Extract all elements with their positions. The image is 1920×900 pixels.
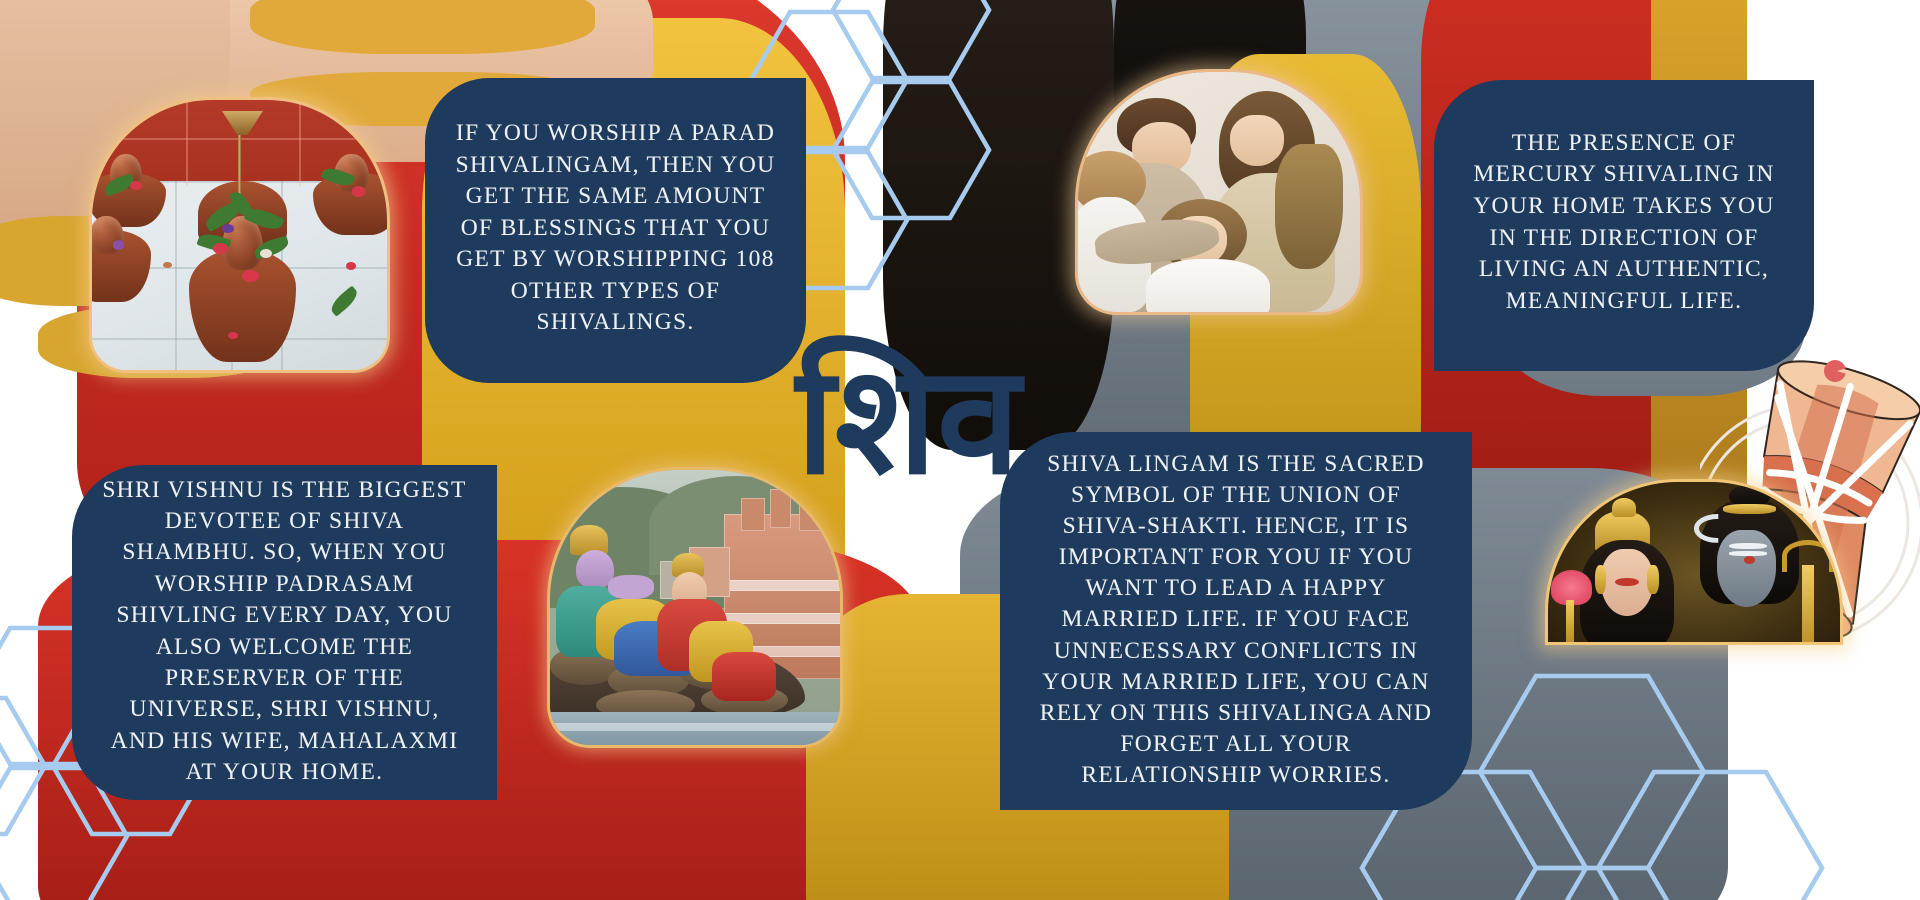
family-embrace-photo [1078, 72, 1360, 312]
vishnu-lakshmi-sheshnag-statue-photo [550, 470, 840, 745]
shiva-parvati-illustration [1548, 482, 1840, 642]
infographic-canvas: IF YOU WORSHIP A PARAD SHIVALINGAM, THEN… [0, 0, 1920, 900]
card-shri-vishnu-devotee-text: SHRI VISHNU IS THE BIGGEST DEVOTEE OF SH… [102, 475, 467, 789]
card-shiva-shakti-union-text: SHIVA LINGAM IS THE SACRED SYMBOL OF THE… [1028, 449, 1444, 791]
card-parad-shivalingam-blessings-text: IF YOU WORSHIP A PARAD SHIVALINGAM, THEN… [452, 118, 779, 339]
card-mercury-shivaling-presence: THE PRESENCE OF MERCURY SHIVALING IN YOU… [1434, 80, 1814, 371]
card-shri-vishnu-devotee: SHRI VISHNU IS THE BIGGEST DEVOTEE OF SH… [72, 465, 497, 800]
card-shiva-shakti-union: SHIVA LINGAM IS THE SACRED SYMBOL OF THE… [1000, 432, 1472, 810]
card-parad-shivalingam-blessings: IF YOU WORSHIP A PARAD SHIVALINGAM, THEN… [425, 78, 806, 383]
copper-shivling-offerings-photo [92, 100, 387, 370]
card-mercury-shivaling-presence-text: THE PRESENCE OF MERCURY SHIVALING IN YOU… [1458, 128, 1790, 318]
